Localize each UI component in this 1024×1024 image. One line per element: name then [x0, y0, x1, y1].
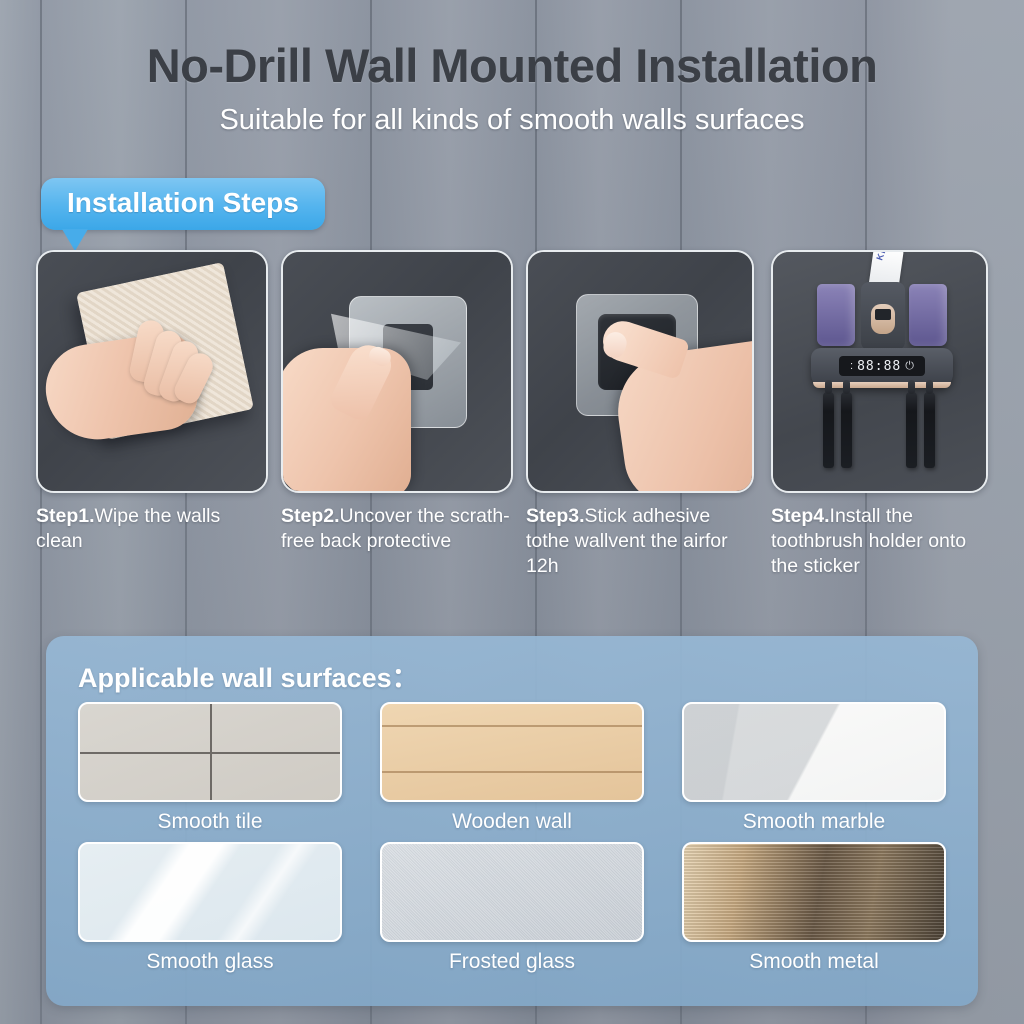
toothbrush-icon — [823, 392, 834, 468]
surface-label: Wooden wall — [372, 810, 652, 834]
surface-item-smooth-glass: Smooth glass — [70, 842, 350, 974]
tile-swatch — [78, 702, 342, 802]
step-4-number: Step4. — [771, 505, 830, 527]
infographic-page: No-Drill Wall Mounted Installation Suita… — [0, 0, 1024, 1024]
marble-swatch — [682, 702, 946, 802]
step-1-caption: Step1.Wipe the walls clean — [36, 504, 268, 554]
step-3-caption: Step3.Stick adhesive tothe wallvent the … — [526, 504, 754, 579]
installation-steps-banner: Installation Steps — [41, 178, 325, 230]
toothpaste-label: KILE — [874, 250, 892, 262]
banner-pointer-icon — [62, 229, 88, 251]
surface-label: Smooth metal — [674, 950, 954, 974]
step-2-photo — [281, 250, 513, 493]
step-2-caption: Step2.Uncover the scrath-free back prote… — [281, 504, 513, 554]
step-1-photo — [36, 250, 268, 493]
surface-label: Smooth marble — [674, 810, 954, 834]
surfaces-grid: Smooth tile Wooden wall Smooth marble Sm… — [70, 702, 954, 974]
wood-swatch — [380, 702, 644, 802]
surface-label: Smooth glass — [70, 950, 350, 974]
step-4-photo: KILE : 88:88 ⏻ — [771, 250, 988, 493]
toothbrush-icon — [924, 392, 935, 468]
surface-label: Frosted glass — [372, 950, 652, 974]
step-2-number: Step2. — [281, 505, 340, 527]
glass-swatch — [78, 842, 342, 942]
display-time: 88:88 — [857, 359, 901, 374]
frosted-glass-swatch — [380, 842, 644, 942]
surfaces-panel-title: Applicable wall surfaces： — [78, 656, 419, 695]
step-1-number: Step1. — [36, 505, 95, 527]
digital-display: : 88:88 ⏻ — [839, 356, 925, 376]
page-subtitle: Suitable for all kinds of smooth walls s… — [0, 104, 1024, 137]
step-3-number: Step3. — [526, 505, 585, 527]
step-card-2: Step2.Uncover the scrath-free back prote… — [281, 250, 513, 554]
surface-item-frosted-glass: Frosted glass — [372, 842, 652, 974]
metal-swatch — [682, 842, 946, 942]
step-3-photo — [526, 250, 754, 493]
surface-label: Smooth tile — [70, 810, 350, 834]
surface-item-smooth-metal: Smooth metal — [674, 842, 954, 974]
page-title: No-Drill Wall Mounted Installation — [0, 38, 1024, 93]
step-card-3: Step3.Stick adhesive tothe wallvent the … — [526, 250, 754, 579]
display-colon-icon: : — [850, 361, 853, 372]
step-4-caption: Step4.Install the toothbrush holder onto… — [771, 504, 988, 579]
dispenser-slot-icon — [871, 304, 895, 334]
step-card-4: KILE : 88:88 ⏻ Step4.Install the toothbr… — [771, 250, 988, 579]
step-card-1: Step1.Wipe the walls clean — [36, 250, 268, 554]
applicable-surfaces-panel: Applicable wall surfaces： Smooth tile Wo… — [46, 636, 978, 1006]
cup-icon — [817, 284, 855, 346]
surface-item-smooth-marble: Smooth marble — [674, 702, 954, 834]
toothbrush-icon — [906, 392, 917, 468]
cup-icon — [909, 284, 947, 346]
surface-item-smooth-tile: Smooth tile — [70, 702, 350, 834]
power-icon: ⏻ — [905, 360, 914, 373]
toothbrush-icon — [841, 392, 852, 468]
surface-item-wooden-wall: Wooden wall — [372, 702, 652, 834]
